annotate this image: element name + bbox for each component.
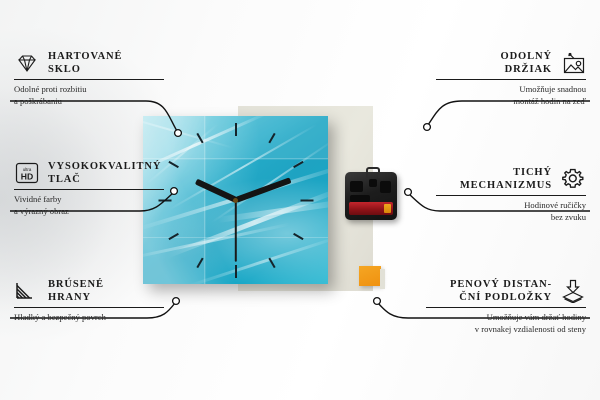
feature-foam-spacers[interactable]: PENOVÝ DISTAN- ČNÍ PODLOŽKY Umožňuje vám… [426, 278, 586, 335]
feature-title: BRÚSENÉ HRANY [48, 278, 104, 304]
divider [14, 189, 164, 190]
feature-subtitle: Umožňuje snadnou montáž hodin na zeď [436, 84, 586, 107]
feature-tempered-glass[interactable]: HARTOVANÉ SKLO Odolné proti rozbitiu a p… [14, 50, 164, 107]
divider [14, 79, 164, 80]
feature-polished-edges[interactable]: BRÚSENÉ HRANY Hladký a bezpečný povrch [14, 278, 164, 324]
feature-subtitle: Odolné proti rozbitiu a poškrábaniu [14, 84, 164, 107]
divider [436, 79, 586, 80]
divider [436, 195, 586, 196]
feature-subtitle: Hladký a bezpečný povrch [14, 312, 164, 324]
feature-title: HARTOVANÉ SKLO [48, 50, 122, 76]
feature-title: ODOLNÝ DRŽIAK [501, 50, 553, 76]
feature-title: TICHÝ MECHANIZMUS [460, 166, 552, 192]
svg-text:HD: HD [21, 172, 33, 182]
infographic-canvas: HARTOVANÉ SKLO Odolné proti rozbitiu a p… [0, 0, 600, 400]
wall-hanger-icon [560, 51, 586, 75]
feature-subtitle: Vividné farby a výrazný obraz [14, 194, 164, 217]
feature-subtitle: Hodinové ručičky bez zvuku [436, 200, 586, 223]
divider [14, 307, 164, 308]
feature-high-quality-print[interactable]: ultra HD VYSOKOKVALITNÝ TLAČ Vividné far… [14, 160, 164, 217]
feature-title: VYSOKOKVALITNÝ TLAČ [48, 160, 161, 186]
feature-title: PENOVÝ DISTAN- ČNÍ PODLOŽKY [450, 278, 552, 304]
ultra-hd-icon: ultra HD [14, 161, 40, 185]
polished-edges-icon [14, 279, 40, 303]
gear-icon [560, 167, 586, 191]
foam-pad-icon [560, 279, 586, 303]
feature-silent-mechanism[interactable]: TICHÝ MECHANIZMUS Hodinové ručičky bez z… [436, 166, 586, 223]
feature-durable-hanger[interactable]: ODOLNÝ DRŽIAK Umožňuje snadnou montáž ho… [436, 50, 586, 107]
divider [426, 307, 586, 308]
diamond-icon [14, 51, 40, 75]
feature-subtitle: Umožňuje vám držať hodiny v rovnakej vzd… [426, 312, 586, 335]
